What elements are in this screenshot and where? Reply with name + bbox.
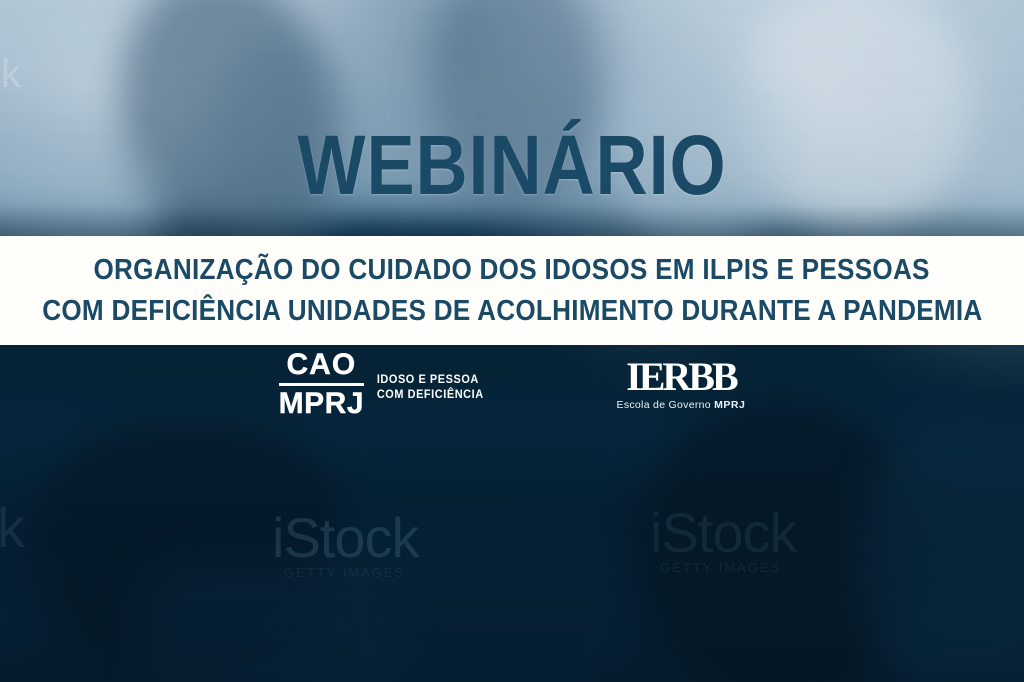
logo-row: CAO MPRJ IDOSO E PESSOA COM DEFICIÊNCIA …	[0, 356, 1024, 412]
subtitle-band: ORGANIZAÇÃO DO CUIDADO DOS IDOSOS EM ILP…	[0, 236, 1024, 345]
page-title: WEBINÁRIO	[72, 126, 953, 206]
istock-watermark-sub: GETTY IMAGES	[660, 560, 781, 575]
subtitle-line-2: COM DEFICIÊNCIA UNIDADES DE ACOLHIMENTO …	[42, 291, 982, 331]
istock-watermark: iStock	[272, 505, 419, 570]
ierbb-logo: IERBB Escola de Governo MPRJ	[617, 357, 746, 411]
ierbb-tagline: Escola de Governo MPRJ	[617, 399, 746, 411]
cao-logo-text: CAO	[279, 350, 364, 382]
cao-mprj-logo: CAO MPRJ IDOSO E PESSOA COM DEFICIÊNCIA	[279, 350, 487, 419]
ierbb-wordmark: IERBB	[626, 357, 736, 397]
cao-tagline-line-2: COM DEFICIÊNCIA	[377, 388, 484, 403]
istock-watermark: iStock	[650, 500, 797, 565]
title-block: WEBINÁRIO	[0, 126, 1024, 206]
subtitle-line-1: ORGANIZAÇÃO DO CUIDADO DOS IDOSOS EM ILP…	[94, 250, 930, 290]
webinar-poster: ck ck iStock iStock GETTY IMAGES GETTY I…	[0, 0, 1024, 682]
cao-logo-divider	[279, 383, 364, 386]
istock-watermark: ck	[0, 495, 24, 560]
ierbb-tagline-suffix: MPRJ	[714, 399, 745, 411]
mprj-logo-text: MPRJ	[279, 388, 364, 419]
cao-logo-tagline: IDOSO E PESSOA COM DEFICIÊNCIA	[377, 366, 484, 402]
istock-watermark: ck	[0, 52, 20, 97]
istock-watermark-sub: GETTY IMAGES	[284, 565, 405, 580]
ierbb-tagline-text: Escola de Governo	[617, 399, 711, 411]
cao-tagline-line-1: IDOSO E PESSOA	[377, 373, 484, 388]
cao-mprj-wordmark: CAO MPRJ	[279, 350, 364, 419]
